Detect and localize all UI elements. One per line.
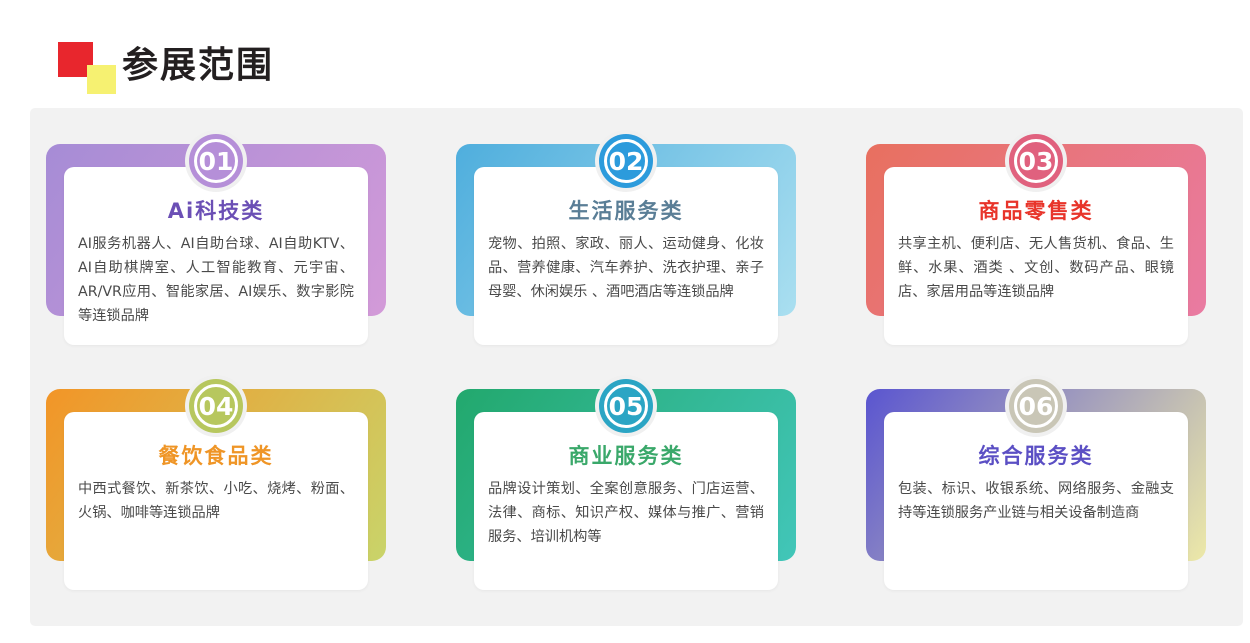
- card-number: 01: [199, 147, 234, 176]
- category-card-grid: Ai科技类 AI服务机器人、AI自助台球、AI自助KTV、AI自助棋牌室、人工智…: [46, 130, 1206, 600]
- exhibition-scope-page: 参展范围 Ai科技类 AI服务机器人、AI自助台球、AI自助KTV、AI自助棋牌…: [0, 0, 1250, 643]
- card-number: 02: [609, 147, 644, 176]
- card-title: 综合服务类: [898, 442, 1174, 470]
- card-number-badge: 05: [595, 375, 657, 437]
- category-card[interactable]: Ai科技类 AI服务机器人、AI自助台球、AI自助KTV、AI自助棋牌室、人工智…: [46, 130, 386, 345]
- card-title: Ai科技类: [78, 197, 354, 225]
- card-number: 06: [1019, 392, 1054, 421]
- card-title: 生活服务类: [488, 197, 764, 225]
- card-body: Ai科技类 AI服务机器人、AI自助台球、AI自助KTV、AI自助棋牌室、人工智…: [64, 167, 368, 345]
- card-body: 商品零售类 共享主机、便利店、无人售货机、食品、生鲜、水果、酒类 、文创、数码产…: [884, 167, 1188, 345]
- card-body: 综合服务类 包装、标识、收银系统、网络服务、金融支持等连锁服务产业链与相关设备制…: [884, 412, 1188, 590]
- card-title: 商业服务类: [488, 442, 764, 470]
- card-body: 商业服务类 品牌设计策划、全案创意服务、门店运营、法律、商标、知识产权、媒体与推…: [474, 412, 778, 590]
- card-description: 中西式餐饮、新茶饮、小吃、烧烤、粉面、火锅、咖啡等连锁品牌: [78, 477, 354, 525]
- card-number: 05: [609, 392, 644, 421]
- card-body: 餐饮食品类 中西式餐饮、新茶饮、小吃、烧烤、粉面、火锅、咖啡等连锁品牌: [64, 412, 368, 590]
- category-card[interactable]: 综合服务类 包装、标识、收银系统、网络服务、金融支持等连锁服务产业链与相关设备制…: [866, 375, 1206, 590]
- category-card[interactable]: 商业服务类 品牌设计策划、全案创意服务、门店运营、法律、商标、知识产权、媒体与推…: [456, 375, 796, 590]
- category-card[interactable]: 餐饮食品类 中西式餐饮、新茶饮、小吃、烧烤、粉面、火锅、咖啡等连锁品牌 04: [46, 375, 386, 590]
- category-card[interactable]: 生活服务类 宠物、拍照、家政、丽人、运动健身、化妆品、营养健康、汽车养护、洗衣护…: [456, 130, 796, 345]
- card-description: AI服务机器人、AI自助台球、AI自助KTV、AI自助棋牌室、人工智能教育、元宇…: [78, 232, 354, 328]
- card-number-badge: 01: [185, 130, 247, 192]
- card-description: 包装、标识、收银系统、网络服务、金融支持等连锁服务产业链与相关设备制造商: [898, 477, 1174, 525]
- card-number: 04: [199, 392, 234, 421]
- card-description: 共享主机、便利店、无人售货机、食品、生鲜、水果、酒类 、文创、数码产品、眼镜店、…: [898, 232, 1174, 304]
- card-number: 03: [1019, 147, 1054, 176]
- card-number-badge: 03: [1005, 130, 1067, 192]
- page-header: 参展范围: [56, 28, 274, 88]
- card-description: 宠物、拍照、家政、丽人、运动健身、化妆品、营养健康、汽车养护、洗衣护理、亲子母婴…: [488, 232, 764, 304]
- card-body: 生活服务类 宠物、拍照、家政、丽人、运动健身、化妆品、营养健康、汽车养护、洗衣护…: [474, 167, 778, 345]
- card-description: 品牌设计策划、全案创意服务、门店运营、法律、商标、知识产权、媒体与推广、营销服务…: [488, 477, 764, 549]
- page-title: 参展范围: [122, 44, 274, 88]
- card-number-badge: 02: [595, 130, 657, 192]
- yellow-square-icon: [87, 65, 116, 94]
- logo-squares-icon: [56, 36, 118, 88]
- card-title: 餐饮食品类: [78, 442, 354, 470]
- category-card[interactable]: 商品零售类 共享主机、便利店、无人售货机、食品、生鲜、水果、酒类 、文创、数码产…: [866, 130, 1206, 345]
- card-title: 商品零售类: [898, 197, 1174, 225]
- card-number-badge: 06: [1005, 375, 1067, 437]
- card-number-badge: 04: [185, 375, 247, 437]
